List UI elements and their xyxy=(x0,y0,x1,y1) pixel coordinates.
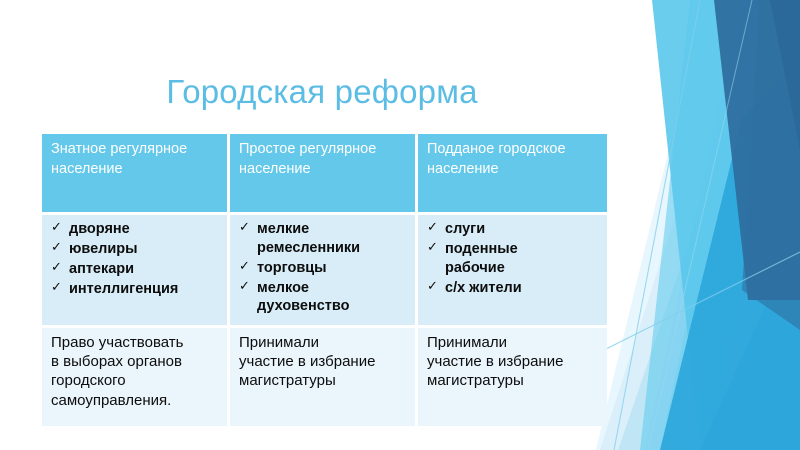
table-cell-subject-list: ✓слуги ✓поденные рабочие ✓с/х жители xyxy=(418,215,607,328)
check-mark-icon: ✓ xyxy=(51,239,62,256)
header-label: Подданое городское население xyxy=(427,141,566,177)
list-item: ✓торговцы xyxy=(239,259,407,278)
population-categories-table: Знатное регулярное население Простое рег… xyxy=(42,134,607,426)
table-row: Право участвовать в выборах органов горо… xyxy=(42,328,607,426)
check-list-common: ✓мелкие ремесленники ✓торговцы ✓мелкое д… xyxy=(239,220,407,316)
check-mark-icon: ✓ xyxy=(427,239,438,256)
list-item-label: торговцы xyxy=(257,260,327,276)
header-label: Простое регулярное население xyxy=(239,141,376,177)
list-item: ✓поденные рабочие xyxy=(427,240,599,278)
list-item-label: ювелиры xyxy=(69,241,138,257)
table-cell-noble-list: ✓дворяне ✓ювелиры ✓аптекари ✓интеллигенц… xyxy=(42,215,230,328)
list-item: ✓с/х жители xyxy=(427,279,599,298)
check-mark-icon: ✓ xyxy=(427,219,438,236)
check-list-subject: ✓слуги ✓поденные рабочие ✓с/х жители xyxy=(427,220,599,297)
check-list-noble: ✓дворяне ✓ювелиры ✓аптекари ✓интеллигенц… xyxy=(51,220,219,298)
list-item: ✓слуги xyxy=(427,220,599,239)
list-item: ✓аптекари xyxy=(51,260,219,279)
check-mark-icon: ✓ xyxy=(51,219,62,236)
list-item: ✓ювелиры xyxy=(51,240,219,259)
table-cell-common-list: ✓мелкие ремесленники ✓торговцы ✓мелкое д… xyxy=(230,215,418,328)
table-header-cell-subject: Подданое городское население xyxy=(418,134,607,215)
list-item-label: интеллигенция xyxy=(69,281,178,297)
header-label: Знатное регулярное население xyxy=(51,141,187,177)
page-title: Городская реформа xyxy=(42,66,602,118)
list-item-label: поденные рабочие xyxy=(445,241,518,276)
list-item-label: мелкие ремесленники xyxy=(257,221,360,256)
table-header-cell-noble: Знатное регулярное население xyxy=(42,134,230,215)
list-item: ✓мелкие ремесленники xyxy=(239,220,407,258)
check-mark-icon: ✓ xyxy=(239,258,250,275)
list-item-label: дворяне xyxy=(69,221,130,237)
table-header-row: Знатное регулярное население Простое рег… xyxy=(42,134,607,215)
list-item-label: мелкое духовенство xyxy=(257,280,349,315)
note-label: Право участвовать в выборах органов горо… xyxy=(51,334,183,409)
note-label: Принимали участие в избрание магистратур… xyxy=(427,334,563,389)
table-cell-subject-rights: Принимали участие в избрание магистратур… xyxy=(418,328,607,426)
table-cell-common-rights: Принимали участие в избрание магистратур… xyxy=(230,328,418,426)
check-mark-icon: ✓ xyxy=(427,278,438,295)
table-header-cell-common: Простое регулярное население xyxy=(230,134,418,215)
list-item-label: аптекари xyxy=(69,261,134,277)
list-item: ✓мелкое духовенство xyxy=(239,279,407,317)
presentation-slide: Городская реформа Знатное регулярное нас… xyxy=(0,0,800,450)
check-mark-icon: ✓ xyxy=(51,259,62,276)
list-item: ✓интеллигенция xyxy=(51,280,219,299)
note-label: Принимали участие в избрание магистратур… xyxy=(239,334,375,389)
list-item: ✓дворяне xyxy=(51,220,219,239)
check-mark-icon: ✓ xyxy=(239,278,250,295)
table-cell-noble-rights: Право участвовать в выборах органов горо… xyxy=(42,328,230,426)
check-mark-icon: ✓ xyxy=(239,219,250,236)
table-row: ✓дворяне ✓ювелиры ✓аптекари ✓интеллигенц… xyxy=(42,215,607,328)
check-mark-icon: ✓ xyxy=(51,279,62,296)
list-item-label: слуги xyxy=(445,221,485,237)
list-item-label: с/х жители xyxy=(445,280,522,296)
